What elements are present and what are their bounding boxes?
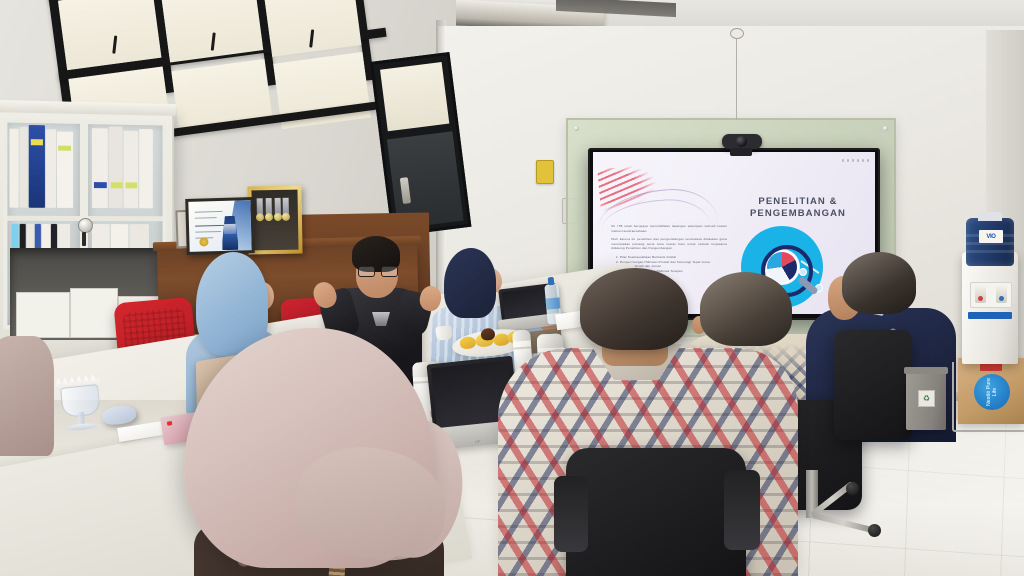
carton-brand-label: Nestlé Pure Life bbox=[986, 374, 998, 410]
water-dispenser[interactable] bbox=[962, 252, 1018, 364]
person-partial-left bbox=[0, 336, 54, 456]
gallon-brand-label: VIO bbox=[986, 234, 995, 240]
water-gallon: VIO bbox=[966, 218, 1014, 266]
gallon-brand-badge: VIO bbox=[979, 230, 1003, 243]
gold-framed-medal-display bbox=[247, 186, 302, 255]
fire-alarm-device bbox=[536, 160, 554, 184]
ceiling-hang-wire bbox=[736, 34, 737, 120]
dispenser-tap-panel[interactable] bbox=[970, 282, 1012, 308]
office-chair[interactable] bbox=[834, 330, 912, 440]
slide-title-line2: PENGEMBANGAN bbox=[733, 208, 863, 220]
camera-lens-icon bbox=[736, 136, 747, 147]
chair-caster bbox=[846, 482, 859, 495]
office-chair[interactable] bbox=[566, 448, 746, 576]
framed-certificate bbox=[185, 197, 255, 255]
person-hair bbox=[580, 268, 688, 350]
cabinet-key[interactable] bbox=[82, 232, 86, 246]
slide-header-dots bbox=[842, 159, 870, 162]
gallon-cap bbox=[978, 212, 1002, 221]
cabinet-lock-knob[interactable] bbox=[78, 218, 93, 233]
slide-title-line1: PENELITIAN & bbox=[733, 196, 863, 208]
slide-title: PENELITIAN & PENGEMBANGAN bbox=[733, 196, 863, 220]
chair-caster bbox=[868, 524, 881, 537]
hang-clip bbox=[730, 28, 744, 39]
person-hair bbox=[842, 252, 916, 314]
person-pink-hijab bbox=[176, 328, 464, 576]
recycle-icon: ♻ bbox=[918, 390, 935, 407]
covered-water-goblet[interactable] bbox=[59, 376, 101, 435]
eyeglasses-icon bbox=[358, 266, 398, 275]
laptop-brand-label: HP bbox=[475, 439, 481, 445]
meeting-room-photo: PENELITIAN & PENGEMBANGAN UII ITB telah … bbox=[0, 0, 1024, 576]
water-carton: Nestlé Pure Life bbox=[958, 358, 1024, 424]
carton-brand-badge: Nestlé Pure Life bbox=[974, 374, 1010, 410]
slide-paragraph-2: Oleh karena itu penelitian dan pengemban… bbox=[611, 237, 727, 251]
waste-bin[interactable]: ♻ bbox=[906, 372, 946, 430]
slide-paragraph-1: UII ITB telah berupaya memudahkan lapang… bbox=[611, 224, 727, 233]
person-navy-hijab bbox=[444, 248, 496, 318]
dispenser-drip-tray bbox=[968, 312, 1012, 319]
camera-mount bbox=[730, 148, 752, 156]
